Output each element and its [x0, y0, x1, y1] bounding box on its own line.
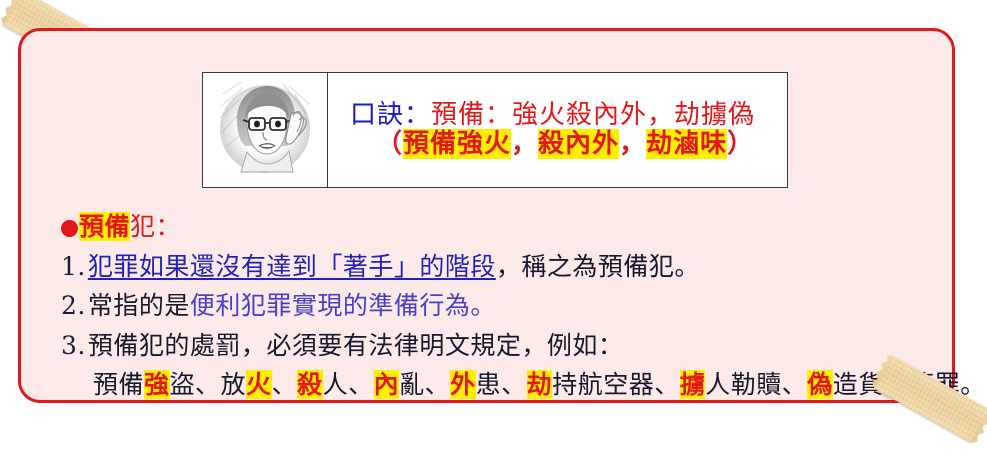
bullet-dot-icon: [61, 220, 78, 237]
detail-keyword-3: 殺: [297, 370, 323, 399]
mnemonic-line-1: 口訣：預備：強火殺內外，劫擄偽: [338, 101, 779, 130]
detail-keyword-7: 擄: [680, 370, 706, 399]
mnemonic-group-3: 劫滷味: [646, 129, 727, 159]
mnemonic-label: 口訣：: [350, 100, 431, 130]
portrait-sketch-icon: [213, 80, 317, 180]
list-item-1: 1.犯罪如果還沒有達到「著手」的階段，稱之為預備犯。: [61, 247, 961, 287]
note-card: 口訣：預備：強火殺內外，劫擄偽 （預備強火，殺內外，劫滷味） 預備犯： 1.犯罪…: [18, 28, 955, 403]
bullet-highlight: 預備: [79, 212, 130, 241]
detail-tail-2: 、: [272, 370, 298, 399]
body-text: 預備犯： 1.犯罪如果還沒有達到「著手」的階段，稱之為預備犯。 2.常指的是便利…: [61, 207, 961, 405]
bullet-rest: 犯：: [130, 212, 181, 241]
detail-tail-4: 亂、: [399, 370, 450, 399]
detail-tail-7: 人勒贖、: [705, 370, 807, 399]
list-item-3-text: 預備犯的處罰，必須要有法律明文規定，例如：: [88, 331, 624, 360]
list-item-3-number: 3.: [61, 331, 86, 360]
list-item-2-number: 2.: [61, 291, 86, 320]
detail-keyword-2: 火: [246, 370, 272, 399]
detail-keyword-6: 劫: [527, 370, 553, 399]
detail-tail-5: 患、: [476, 370, 527, 399]
detail-keyword-8: 偽: [807, 370, 833, 399]
list-item-3: 3.預備犯的處罰，必須要有法律明文規定，例如：: [61, 326, 961, 366]
list-item-2: 2.常指的是便利犯罪實現的準備行為。: [61, 286, 961, 326]
bullet-heading: 預備犯：: [61, 207, 961, 247]
detail-keyword-5: 外: [450, 370, 476, 399]
detail-keyword-1: 強: [144, 370, 170, 399]
detail-keyword-4: 內: [374, 370, 400, 399]
mnemonic-group-1: 預備強火: [403, 129, 511, 159]
detail-parts: 強盜、放火、殺人、內亂、外患、劫持航空器、擄人勒贖、偽造貨幣等罪。: [144, 370, 986, 399]
mnemonic-close-paren: ）: [727, 129, 754, 159]
detail-tail-1: 盜、放: [170, 370, 247, 399]
list-item-1-rest: ，稱之為預備犯。: [496, 252, 700, 281]
list-item-2-lead: 常指的是: [88, 291, 190, 320]
list-item-2-emphasis: 便利犯罪實現的準備行為。: [190, 291, 496, 320]
mnemonic-group-2: 殺內外: [538, 129, 619, 159]
list-item-3-detail: 預備強盜、放火、殺人、內亂、外患、劫持航空器、擄人勒贖、偽造貨幣等罪。: [61, 365, 961, 405]
mnemonic-box: 口訣：預備：強火殺內外，劫擄偽 （預備強火，殺內外，劫滷味）: [202, 72, 788, 188]
portrait-cell: [203, 73, 328, 187]
list-item-1-linked-text[interactable]: 犯罪如果還沒有達到「著手」的階段: [88, 252, 496, 281]
mnemonic-comma-2: ，: [619, 129, 646, 159]
mnemonic-open-paren: （: [376, 129, 403, 159]
detail-lead: 預備: [93, 370, 144, 399]
list-item-1-number: 1.: [61, 252, 86, 281]
detail-tail-6: 持航空器、: [552, 370, 680, 399]
mnemonic-line-1-text: 預備：強火殺內外，劫擄偽: [431, 100, 755, 130]
mnemonic-comma-1: ，: [511, 129, 538, 159]
mnemonic-line-2: （預備強火，殺內外，劫滷味）: [338, 130, 779, 159]
mnemonic-text-cell: 口訣：預備：強火殺內外，劫擄偽 （預備強火，殺內外，劫滷味）: [328, 73, 787, 187]
detail-tail-3: 人、: [323, 370, 374, 399]
